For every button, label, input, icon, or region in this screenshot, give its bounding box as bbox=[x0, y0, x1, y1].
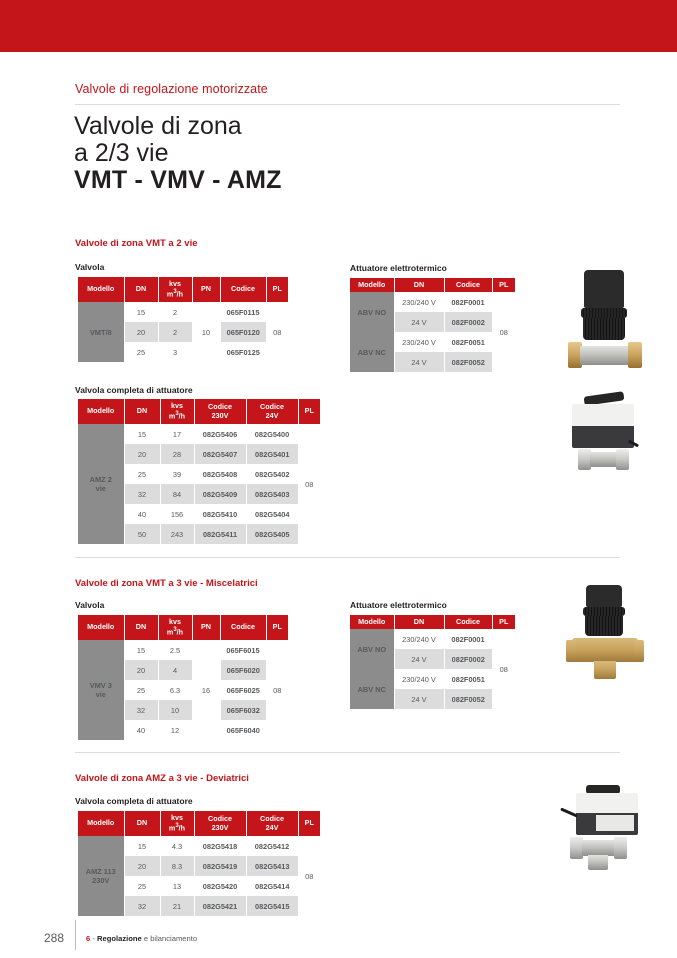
col-modello: Modello bbox=[78, 277, 124, 302]
cell-dn: 230/240 V bbox=[394, 292, 444, 312]
cell-kvs: 10 bbox=[158, 700, 192, 720]
cell-pl: 08 bbox=[266, 302, 288, 362]
col-codice-230v: Codice230V bbox=[194, 399, 246, 424]
page-title: Valvole di zona a 2/3 vie VMT - VMV - AM… bbox=[74, 113, 574, 194]
cell-kvs: 243 bbox=[160, 524, 194, 544]
cell-codice: 065F6032 bbox=[220, 700, 266, 720]
table-row: VMV 3vie 15 2.5 16 065F6015 08 bbox=[78, 640, 288, 660]
section-divider-2 bbox=[75, 752, 620, 753]
table-row: ABV NC 230/240 V 082F0051 bbox=[350, 332, 515, 352]
table-amz-3-vie: Modello DN kvsm3/h Codice230V Codice24V … bbox=[78, 811, 320, 916]
cell-model: ABV NO bbox=[350, 629, 394, 669]
col-modello: Modello bbox=[350, 278, 394, 292]
cell-model: VMV 3vie bbox=[78, 640, 124, 740]
cell-codice: 065F6015 bbox=[220, 640, 266, 660]
product-image-thermal-actuator-2way-valve bbox=[552, 268, 662, 383]
cell-kvs: 12 bbox=[158, 720, 192, 740]
col-pl: PL bbox=[298, 399, 320, 424]
cell-dn: 24 V bbox=[394, 312, 444, 332]
label-valvola-completa-amz3: Valvola completa di attuatore bbox=[75, 796, 193, 806]
cell-codice-24v: 082G5401 bbox=[246, 444, 298, 464]
cell-dn: 20 bbox=[124, 660, 158, 680]
cell-codice: 082F0052 bbox=[444, 689, 492, 709]
col-dn: DN bbox=[124, 399, 160, 424]
cell-dn: 15 bbox=[124, 640, 158, 660]
table-row: AMZ 2vie 15 17 082G5406 082G5400 08 bbox=[78, 424, 320, 444]
cell-codice: 065F0125 bbox=[220, 342, 266, 362]
col-modello: Modello bbox=[78, 615, 124, 640]
kicker-divider bbox=[75, 104, 620, 105]
cell-codice-230v: 082G5407 bbox=[194, 444, 246, 464]
cell-dn: 32 bbox=[124, 700, 158, 720]
product-image-motorized-ball-valve-3way bbox=[548, 785, 668, 910]
footer-chapter-number: 6 bbox=[86, 934, 90, 943]
section-divider-1 bbox=[75, 557, 620, 558]
cell-codice-24v: 082G5403 bbox=[246, 484, 298, 504]
cell-kvs: 4 bbox=[158, 660, 192, 680]
col-codice: Codice bbox=[220, 615, 266, 640]
col-codice: Codice bbox=[444, 615, 492, 629]
col-codice-24v: Codice24V bbox=[246, 811, 298, 836]
table-header-row: Modello DN kvsm3/h PN Codice PL bbox=[78, 277, 288, 302]
cell-codice: 082F0001 bbox=[444, 629, 492, 649]
table-row: ABV NC 230/240 V 082F0051 bbox=[350, 669, 515, 689]
cell-dn: 15 bbox=[124, 836, 160, 856]
cell-kvs: 17 bbox=[160, 424, 194, 444]
catalog-page: Valvole di regolazione motorizzate Valvo… bbox=[0, 0, 677, 958]
cell-codice-24v: 082G5412 bbox=[246, 836, 298, 856]
col-kvs: kvsm3/h bbox=[158, 615, 192, 640]
cell-dn: 15 bbox=[124, 424, 160, 444]
cell-kvs: 8.3 bbox=[160, 856, 194, 876]
cell-kvs: 3 bbox=[158, 342, 192, 362]
cell-codice-230v: 082G5411 bbox=[194, 524, 246, 544]
table-header-row: Modello DN kvsm3/h Codice230V Codice24V … bbox=[78, 811, 320, 836]
cell-pl: 08 bbox=[492, 292, 515, 372]
cell-codice: 065F0120 bbox=[220, 322, 266, 342]
cell-kvs: 39 bbox=[160, 464, 194, 484]
cell-kvs: 156 bbox=[160, 504, 194, 524]
cell-codice-24v: 082G5415 bbox=[246, 896, 298, 916]
cell-model: AMZ 113230V bbox=[78, 836, 124, 916]
col-codice-24v: Codice24V bbox=[246, 399, 298, 424]
col-codice: Codice bbox=[444, 278, 492, 292]
cell-dn: 230/240 V bbox=[394, 332, 444, 352]
col-pl: PL bbox=[298, 811, 320, 836]
cell-dn: 25 bbox=[124, 680, 158, 700]
cell-pl: 08 bbox=[298, 836, 320, 916]
cell-codice: 082F0001 bbox=[444, 292, 492, 312]
cell-model: AMZ 2vie bbox=[78, 424, 124, 544]
cell-codice: 082F0051 bbox=[444, 332, 492, 352]
cell-codice-24v: 082G5404 bbox=[246, 504, 298, 524]
cell-dn: 32 bbox=[124, 484, 160, 504]
col-modello: Modello bbox=[78, 811, 124, 836]
cell-model: ABV NO bbox=[350, 292, 394, 332]
table-row: VMT/8 15 2 10 065F0115 08 bbox=[78, 302, 288, 322]
cell-codice-24v: 082G5400 bbox=[246, 424, 298, 444]
cell-model: ABV NC bbox=[350, 332, 394, 372]
col-pl: PL bbox=[266, 615, 288, 640]
title-line-1: Valvole di zona bbox=[74, 113, 574, 140]
cell-kvs: 4.3 bbox=[160, 836, 194, 856]
col-modello: Modello bbox=[78, 399, 124, 424]
table-header-row: Modello DN kvsm3/h PN Codice PL bbox=[78, 615, 288, 640]
footer-separator: - bbox=[92, 934, 95, 943]
cell-kvs: 2 bbox=[158, 322, 192, 342]
col-codice: Codice bbox=[220, 277, 266, 302]
cell-dn: 24 V bbox=[394, 352, 444, 372]
table-row: ABV NO 230/240 V 082F0001 08 bbox=[350, 292, 515, 312]
page-kicker: Valvole di regolazione motorizzate bbox=[75, 82, 268, 96]
col-dn: DN bbox=[394, 615, 444, 629]
cell-dn: 32 bbox=[124, 896, 160, 916]
col-kvs: kvsm3/h bbox=[158, 277, 192, 302]
product-image-thermal-actuator-3way-valve bbox=[552, 585, 667, 710]
table-vmt-2-vie-valvola: Modello DN kvsm3/h PN Codice PL VMT/8 15… bbox=[78, 277, 288, 362]
top-red-band bbox=[0, 0, 677, 52]
table-row: AMZ 113230V 15 4.3 082G5418 082G5412 08 bbox=[78, 836, 320, 856]
section-title-vmt-3-vie: Valvole di zona VMT a 3 vie - Miscelatri… bbox=[75, 578, 258, 589]
col-pl: PL bbox=[492, 615, 515, 629]
cell-codice-230v: 082G5408 bbox=[194, 464, 246, 484]
table-amz-2-vie: Modello DN kvsm3/h Codice230V Codice24V … bbox=[78, 399, 320, 544]
cell-pn: 16 bbox=[192, 640, 220, 740]
cell-codice-230v: 082G5406 bbox=[194, 424, 246, 444]
cell-model: ABV NC bbox=[350, 669, 394, 709]
label-valvola-completa-amz2: Valvola completa di attuatore bbox=[75, 385, 193, 395]
label-valvola-vmt2: Valvola bbox=[75, 262, 104, 272]
label-valvola-vmt3: Valvola bbox=[75, 600, 104, 610]
cell-kvs: 13 bbox=[160, 876, 194, 896]
col-pn: PN bbox=[192, 615, 220, 640]
table-header-row: Modello DN Codice PL bbox=[350, 615, 515, 629]
cell-dn: 20 bbox=[124, 444, 160, 464]
cell-pl: 08 bbox=[266, 640, 288, 740]
col-dn: DN bbox=[124, 277, 158, 302]
cell-pn: 10 bbox=[192, 302, 220, 362]
footer-chapter-name: Regolazione bbox=[97, 934, 142, 943]
cell-codice: 082F0052 bbox=[444, 352, 492, 372]
cell-codice-230v: 082G5421 bbox=[194, 896, 246, 916]
cell-kvs: 84 bbox=[160, 484, 194, 504]
table-vmt-3-vie-valvola: Modello DN kvsm3/h PN Codice PL VMV 3vie… bbox=[78, 615, 288, 740]
table-row: ABV NO 230/240 V 082F0001 08 bbox=[350, 629, 515, 649]
cell-model: VMT/8 bbox=[78, 302, 124, 362]
cell-dn: 15 bbox=[124, 302, 158, 322]
cell-dn: 40 bbox=[124, 720, 158, 740]
cell-kvs: 2.5 bbox=[158, 640, 192, 660]
cell-pl: 08 bbox=[298, 424, 320, 544]
cell-codice-24v: 082G5414 bbox=[246, 876, 298, 896]
col-pl: PL bbox=[492, 278, 515, 292]
title-line-3: VMT - VMV - AMZ bbox=[74, 167, 574, 194]
table-header-row: Modello DN kvsm3/h Codice230V Codice24V … bbox=[78, 399, 320, 424]
title-line-2: a 2/3 vie bbox=[74, 140, 574, 167]
col-kvs: kvsm3/h bbox=[160, 811, 194, 836]
cell-dn: 25 bbox=[124, 876, 160, 896]
col-dn: DN bbox=[394, 278, 444, 292]
cell-kvs: 28 bbox=[160, 444, 194, 464]
cell-codice: 065F6025 bbox=[220, 680, 266, 700]
cell-codice: 065F6020 bbox=[220, 660, 266, 680]
cell-codice: 082F0002 bbox=[444, 312, 492, 332]
cell-codice-230v: 082G5418 bbox=[194, 836, 246, 856]
col-kvs: kvsm3/h bbox=[160, 399, 194, 424]
cell-codice-230v: 082G5409 bbox=[194, 484, 246, 504]
cell-dn: 50 bbox=[124, 524, 160, 544]
cell-dn: 25 bbox=[124, 342, 158, 362]
cell-codice-24v: 082G5405 bbox=[246, 524, 298, 544]
footer-chapter-suffix: e bilanciamento bbox=[142, 934, 197, 943]
table-vmt-2-vie-attuatore: Modello DN Codice PL ABV NO 230/240 V 08… bbox=[350, 278, 515, 372]
col-dn: DN bbox=[124, 811, 160, 836]
cell-dn: 20 bbox=[124, 856, 160, 876]
page-number: 288 bbox=[44, 931, 64, 945]
cell-dn: 24 V bbox=[394, 689, 444, 709]
product-image-motorized-ball-valve-2way bbox=[548, 390, 668, 510]
cell-dn: 230/240 V bbox=[394, 629, 444, 649]
col-modello: Modello bbox=[350, 615, 394, 629]
table-vmt-3-vie-attuatore: Modello DN Codice PL ABV NO 230/240 V 08… bbox=[350, 615, 515, 709]
col-dn: DN bbox=[124, 615, 158, 640]
section-title-amz-3-vie: Valvole di zona AMZ a 3 vie - Deviatrici bbox=[75, 773, 249, 784]
cell-codice: 082F0051 bbox=[444, 669, 492, 689]
cell-codice-24v: 082G5402 bbox=[246, 464, 298, 484]
label-attuatore-2: Attuatore elettrotermico bbox=[350, 600, 447, 610]
cell-dn: 230/240 V bbox=[394, 669, 444, 689]
section-title-vmt-2-vie: Valvole di zona VMT a 2 vie bbox=[75, 238, 198, 249]
col-codice-230v: Codice230V bbox=[194, 811, 246, 836]
cell-kvs: 6.3 bbox=[158, 680, 192, 700]
cell-dn: 24 V bbox=[394, 649, 444, 669]
col-pl: PL bbox=[266, 277, 288, 302]
cell-kvs: 21 bbox=[160, 896, 194, 916]
cell-codice: 065F0115 bbox=[220, 302, 266, 322]
cell-codice-24v: 082G5413 bbox=[246, 856, 298, 876]
cell-codice-230v: 082G5420 bbox=[194, 876, 246, 896]
col-pn: PN bbox=[192, 277, 220, 302]
cell-pl: 08 bbox=[492, 629, 515, 709]
cell-dn: 20 bbox=[124, 322, 158, 342]
cell-codice-230v: 082G5419 bbox=[194, 856, 246, 876]
cell-dn: 25 bbox=[124, 464, 160, 484]
footer-chapter: 6 - Regolazione e bilanciamento bbox=[86, 934, 197, 943]
cell-codice-230v: 082G5410 bbox=[194, 504, 246, 524]
table-header-row: Modello DN Codice PL bbox=[350, 278, 515, 292]
cell-dn: 40 bbox=[124, 504, 160, 524]
cell-codice: 082F0002 bbox=[444, 649, 492, 669]
footer-vertical-rule bbox=[75, 920, 76, 950]
cell-codice: 065F6040 bbox=[220, 720, 266, 740]
cell-kvs: 2 bbox=[158, 302, 192, 322]
label-attuatore-1: Attuatore elettrotermico bbox=[350, 263, 447, 273]
